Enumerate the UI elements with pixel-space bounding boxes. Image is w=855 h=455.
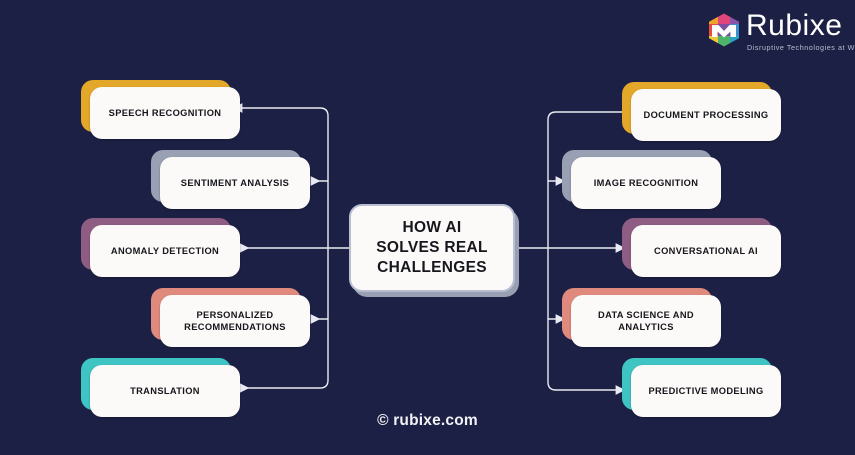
rubixe-hexagon-logo-icon bbox=[706, 12, 742, 48]
center-node: HOW AI SOLVES REAL CHALLENGES bbox=[349, 204, 515, 292]
right-node-1-label: IMAGE RECOGNITION bbox=[588, 177, 705, 190]
right-node-0[interactable]: DOCUMENT PROCESSING bbox=[631, 89, 781, 141]
left-node-0-label-line-0: SPEECH RECOGNITION bbox=[109, 107, 222, 120]
right-node-1[interactable]: IMAGE RECOGNITION bbox=[571, 157, 721, 209]
infographic-canvas: Rubixe Disruptive Technologies at Work bbox=[0, 0, 855, 455]
right-node-3-label-line-0: DATA SCIENCE AND bbox=[598, 309, 694, 322]
right-node-0-label: DOCUMENT PROCESSING bbox=[638, 109, 775, 122]
brand-tagline: Disruptive Technologies at Work bbox=[747, 43, 855, 52]
right-node-4-card: PREDICTIVE MODELING bbox=[631, 365, 781, 417]
right-node-2[interactable]: CONVERSATIONAL AI bbox=[631, 225, 781, 277]
left-node-3-label: PERSONALIZEDRECOMMENDATIONS bbox=[178, 309, 292, 334]
left-node-2-label: ANOMALY DETECTION bbox=[105, 245, 225, 258]
left-node-1-label-line-0: SENTIMENT ANALYSIS bbox=[181, 177, 289, 190]
left-node-0[interactable]: SPEECH RECOGNITION bbox=[90, 87, 240, 139]
right-node-4-label-line-0: PREDICTIVE MODELING bbox=[648, 385, 763, 398]
right-node-2-label: CONVERSATIONAL AI bbox=[648, 245, 764, 258]
right-node-1-label-line-0: IMAGE RECOGNITION bbox=[594, 177, 699, 190]
right-node-2-label-line-0: CONVERSATIONAL AI bbox=[654, 245, 758, 258]
left-node-4-label-line-0: TRANSLATION bbox=[130, 385, 200, 398]
left-node-3[interactable]: PERSONALIZEDRECOMMENDATIONS bbox=[160, 295, 310, 347]
right-node-3-label: DATA SCIENCE ANDANALYTICS bbox=[592, 309, 700, 334]
left-node-4-label: TRANSLATION bbox=[124, 385, 206, 398]
left-node-4-card: TRANSLATION bbox=[90, 365, 240, 417]
left-node-1-card: SENTIMENT ANALYSIS bbox=[160, 157, 310, 209]
footer-credit: © rubixe.com bbox=[0, 412, 855, 430]
center-node-box: HOW AI SOLVES REAL CHALLENGES bbox=[349, 204, 515, 292]
left-node-2-label-line-0: ANOMALY DETECTION bbox=[111, 245, 219, 258]
left-node-3-label-line-0: PERSONALIZED bbox=[184, 309, 286, 322]
left-node-4[interactable]: TRANSLATION bbox=[90, 365, 240, 417]
right-node-3-label-line-1: ANALYTICS bbox=[598, 321, 694, 334]
center-title-line-2: SOLVES REAL bbox=[376, 238, 488, 258]
center-title-line-1: HOW AI bbox=[376, 218, 488, 238]
left-node-1[interactable]: SENTIMENT ANALYSIS bbox=[160, 157, 310, 209]
right-node-0-card: DOCUMENT PROCESSING bbox=[631, 89, 781, 141]
left-node-3-label-line-1: RECOMMENDATIONS bbox=[184, 321, 286, 334]
left-node-3-card: PERSONALIZEDRECOMMENDATIONS bbox=[160, 295, 310, 347]
right-node-3-card: DATA SCIENCE ANDANALYTICS bbox=[571, 295, 721, 347]
left-node-2[interactable]: ANOMALY DETECTION bbox=[90, 225, 240, 277]
left-node-1-label: SENTIMENT ANALYSIS bbox=[175, 177, 295, 190]
left-node-0-card: SPEECH RECOGNITION bbox=[90, 87, 240, 139]
left-node-0-label: SPEECH RECOGNITION bbox=[103, 107, 228, 120]
brand-name: Rubixe bbox=[746, 9, 842, 43]
center-title-line-3: CHALLENGES bbox=[376, 258, 488, 278]
right-node-4-label: PREDICTIVE MODELING bbox=[642, 385, 769, 398]
right-node-2-card: CONVERSATIONAL AI bbox=[631, 225, 781, 277]
right-node-1-card: IMAGE RECOGNITION bbox=[571, 157, 721, 209]
right-node-0-label-line-0: DOCUMENT PROCESSING bbox=[644, 109, 769, 122]
right-node-3[interactable]: DATA SCIENCE ANDANALYTICS bbox=[571, 295, 721, 347]
rubixe-logo: Rubixe Disruptive Technologies at Work bbox=[706, 10, 851, 58]
left-node-2-card: ANOMALY DETECTION bbox=[90, 225, 240, 277]
right-node-4[interactable]: PREDICTIVE MODELING bbox=[631, 365, 781, 417]
center-node-title: HOW AI SOLVES REAL CHALLENGES bbox=[376, 218, 488, 278]
